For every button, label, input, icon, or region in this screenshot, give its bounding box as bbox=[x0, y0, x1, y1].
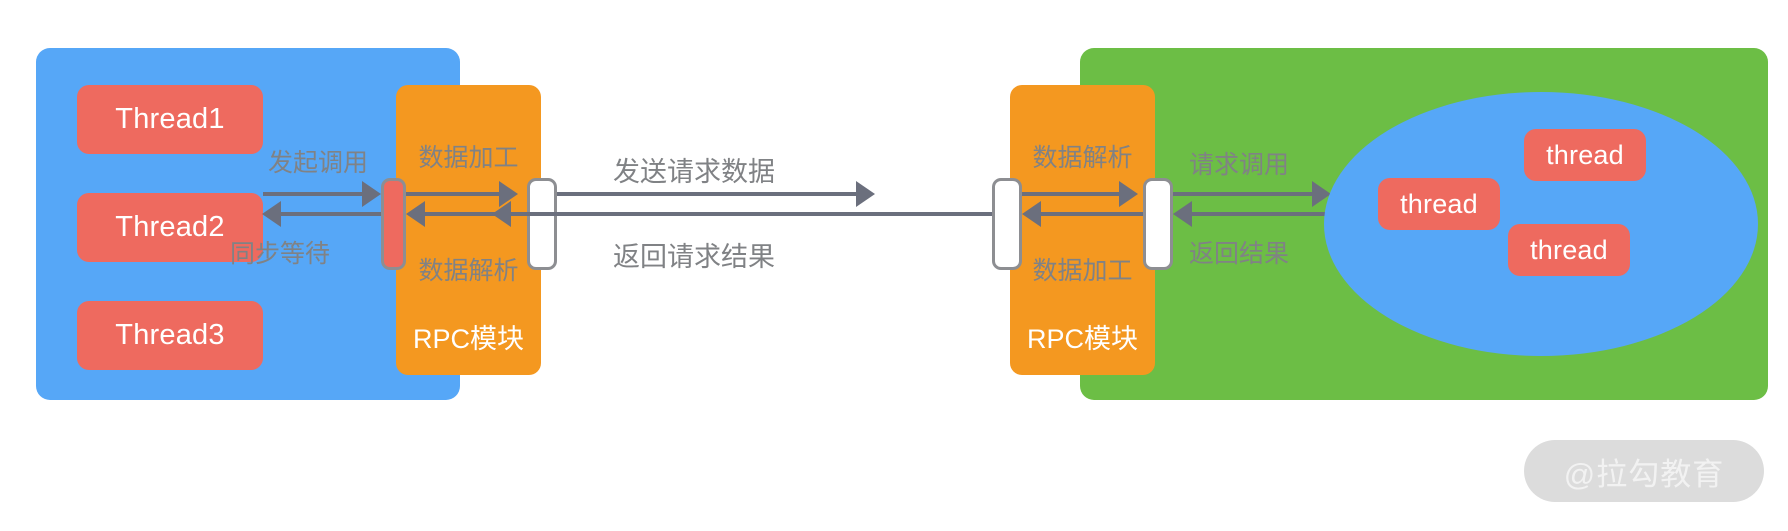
network-response-arrow-line bbox=[511, 212, 992, 216]
server-outbound-connector-bar bbox=[1143, 178, 1173, 270]
network-request-arrow-line bbox=[557, 192, 857, 196]
client-response-arrow-head bbox=[262, 201, 281, 227]
client-request-arrow-label: 发起调用 bbox=[268, 143, 368, 179]
server-pool-thread-box-1: thread bbox=[1378, 178, 1500, 230]
network-request-arrow-head bbox=[856, 181, 875, 207]
client-thread-label-3: Thread3 bbox=[115, 319, 224, 352]
client-rpc-title: RPC模块 bbox=[396, 317, 541, 356]
watermark-text: @拉勾教育 bbox=[1564, 449, 1724, 494]
client-rpc-decode-arrow-head bbox=[406, 201, 425, 227]
client-thread-label-1: Thread1 bbox=[115, 103, 224, 136]
client-rpc-encode-arrow-line bbox=[406, 192, 500, 196]
server-rpc-module: 数据解析 数据加工 RPC模块 bbox=[1010, 85, 1155, 375]
server-return-arrow-label: 返回结果 bbox=[1189, 234, 1289, 270]
server-pool-thread-box-2: thread bbox=[1524, 129, 1646, 181]
server-rpc-decode-arrow-head bbox=[1119, 181, 1138, 207]
network-request-arrow-label: 发送请求数据 bbox=[613, 150, 775, 189]
server-rpc-encode-arrow-head bbox=[1022, 201, 1041, 227]
server-return-arrow-head bbox=[1173, 201, 1192, 227]
client-response-arrow-line bbox=[281, 212, 381, 216]
client-request-arrow-head bbox=[362, 181, 381, 207]
client-thread-label-2: Thread2 bbox=[115, 211, 224, 244]
server-rpc-encode-arrow-line bbox=[1041, 212, 1143, 216]
client-request-arrow-line bbox=[263, 192, 363, 196]
server-invoke-arrow-line bbox=[1173, 192, 1313, 196]
client-rpc-bottom-label: 数据解析 bbox=[396, 251, 541, 287]
server-rpc-top-label: 数据解析 bbox=[1010, 138, 1155, 174]
client-rpc-connector-bar bbox=[527, 178, 557, 270]
network-response-arrow-head bbox=[492, 201, 511, 227]
server-pool-thread-label-1: thread bbox=[1400, 189, 1478, 220]
client-response-arrow-label: 同步等待 bbox=[230, 234, 330, 270]
server-invoke-arrow-label: 请求调用 bbox=[1189, 145, 1289, 181]
server-pool-thread-box-3: thread bbox=[1508, 224, 1630, 276]
server-inbound-connector-bar bbox=[992, 178, 1022, 270]
server-rpc-decode-arrow-line bbox=[1022, 192, 1120, 196]
watermark-badge: @拉勾教育 bbox=[1524, 440, 1764, 502]
diagram-canvas: Thread1 Thread2 Thread3 数据加工 数据解析 RPC模块 … bbox=[0, 0, 1788, 531]
client-thread-box-3: Thread3 bbox=[77, 301, 263, 370]
client-thread-box-1: Thread1 bbox=[77, 85, 263, 154]
server-rpc-title: RPC模块 bbox=[1010, 317, 1155, 356]
client-thread-connector-bar bbox=[381, 178, 406, 270]
server-pool-thread-label-2: thread bbox=[1546, 140, 1624, 171]
client-rpc-top-label: 数据加工 bbox=[396, 138, 541, 174]
network-response-arrow-label: 返回请求结果 bbox=[613, 235, 775, 274]
server-pool-thread-label-3: thread bbox=[1530, 235, 1608, 266]
server-return-arrow-line bbox=[1192, 212, 1338, 216]
client-rpc-module: 数据加工 数据解析 RPC模块 bbox=[396, 85, 541, 375]
server-rpc-bottom-label: 数据加工 bbox=[1010, 251, 1155, 287]
